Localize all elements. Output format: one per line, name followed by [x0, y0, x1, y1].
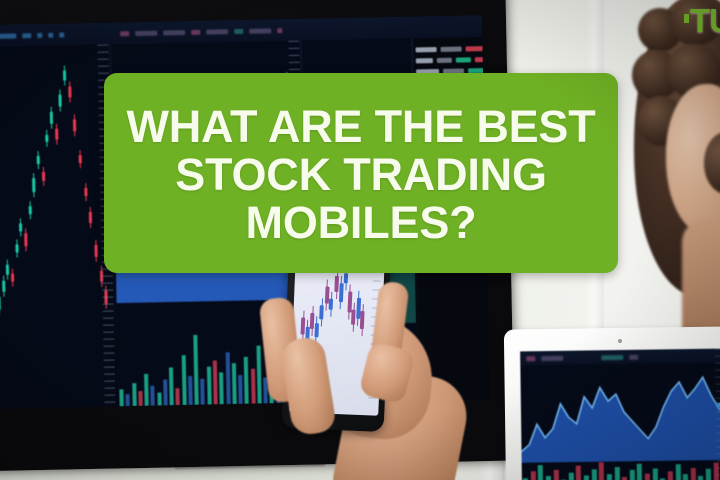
phone-candle [351, 309, 356, 324]
volume-bar [599, 462, 604, 480]
candle [32, 178, 35, 191]
volume-bar [144, 374, 149, 406]
camera-icon [618, 339, 622, 343]
volume-bar [201, 378, 206, 404]
candle-wick [80, 150, 81, 169]
candlestick-chart-pane[interactable] [0, 45, 116, 409]
candle-wick [95, 240, 96, 262]
candle-wick [56, 124, 57, 145]
candle-wick [64, 66, 65, 85]
toolbar-chip[interactable] [22, 33, 31, 38]
hero-thumbnail: WHAT ARE THE BEST STOCK TRADING MOBILES?… [0, 0, 720, 480]
volume-bar [683, 474, 688, 480]
volume-bar [213, 361, 218, 405]
candle-wick [85, 183, 86, 201]
candle-wick [29, 201, 30, 219]
volume-bar [232, 363, 237, 404]
candle [84, 188, 87, 196]
volume-bar [553, 470, 558, 480]
candle-wick [3, 276, 4, 297]
volume-bar [706, 469, 711, 480]
candle [68, 87, 71, 98]
headline: WHAT ARE THE BEST STOCK TRADING MOBILES? [104, 73, 618, 273]
volume-bar [645, 473, 650, 480]
candle [11, 274, 14, 282]
volume-bar [637, 463, 642, 480]
volume-bar [207, 367, 212, 405]
phone-candle-wick [357, 291, 359, 326]
candle-wick [25, 228, 26, 251]
headline-line-3: MOBILES? [246, 200, 477, 246]
person [608, 0, 720, 342]
candle [55, 129, 58, 140]
candle [89, 212, 92, 223]
toolbar-chip[interactable] [120, 31, 129, 36]
volume-bar [538, 465, 543, 480]
volume-bar [157, 392, 161, 405]
volume-bar [163, 379, 168, 405]
toolbar-chip[interactable] [277, 28, 282, 33]
table-cell [416, 58, 433, 63]
tablet-device [504, 326, 720, 480]
toolbar-chip[interactable] [526, 356, 535, 361]
candle [28, 206, 31, 214]
volume-bar [652, 468, 657, 480]
volume-bar [630, 470, 635, 480]
candle-wick [46, 130, 47, 147]
volume-bar [576, 466, 581, 480]
candle-wick [90, 207, 91, 228]
volume-bar [546, 476, 551, 480]
toolbar-chip[interactable] [0, 33, 16, 38]
candle [79, 155, 82, 164]
volume-bar [691, 468, 696, 480]
table-cell [456, 57, 471, 62]
toolbar-chip[interactable] [629, 354, 638, 359]
candle-wick [51, 107, 52, 128]
toolbar-spacer [70, 33, 114, 34]
volume-bar [151, 385, 155, 405]
table-row[interactable] [416, 56, 481, 63]
toolbar-chip[interactable] [59, 32, 64, 37]
candle-wick [38, 151, 39, 170]
phone-candle-wick [352, 302, 354, 331]
phone-candle [314, 323, 319, 338]
headline-banner: WHAT ARE THE BEST STOCK TRADING MOBILES? [104, 73, 618, 273]
toolbar-chip[interactable] [163, 30, 185, 35]
volume-bar [675, 465, 680, 480]
phone-candle-wick [336, 269, 338, 299]
volume-bar [698, 476, 703, 480]
volume-bar [225, 352, 230, 405]
candle [6, 264, 9, 275]
candle-wick [69, 82, 70, 103]
toolbar-chip[interactable] [601, 354, 623, 359]
candle-wick [43, 167, 44, 186]
tablet-price-axis [715, 349, 720, 480]
candle [59, 95, 62, 107]
toolbar-chip[interactable] [135, 30, 157, 35]
candle-wick [60, 90, 61, 112]
table-cell [441, 46, 462, 51]
volume-bar [530, 472, 535, 480]
candle [19, 224, 22, 232]
table-cell [466, 46, 484, 51]
volume-bar [614, 467, 619, 480]
phone-candle-wick [321, 298, 323, 326]
candle [15, 244, 18, 252]
candle [37, 156, 40, 165]
candle [46, 135, 49, 142]
candle [63, 71, 66, 80]
toolbar-chip[interactable] [234, 28, 243, 33]
table-row[interactable] [416, 45, 481, 52]
volume-bar [569, 473, 574, 480]
toolbar-chip[interactable] [249, 28, 271, 33]
volume-bar [238, 375, 243, 404]
candle-wick [16, 239, 17, 257]
volume-bar [193, 335, 198, 405]
area-fill [521, 377, 720, 463]
logo-text: TU [690, 2, 720, 39]
phone-candle [338, 283, 343, 303]
phone-candle-wick [348, 284, 351, 320]
toolbar-chip[interactable] [206, 29, 228, 34]
volume-bar [591, 469, 596, 480]
person-neck [682, 220, 720, 330]
volume-bar [188, 376, 193, 405]
volume-bar [119, 389, 123, 407]
candle [2, 281, 5, 292]
volume-bar [181, 356, 186, 406]
phone-candle-wick [326, 280, 328, 310]
candle [0, 297, 1, 310]
volume-bar [584, 476, 589, 480]
candle-wick [74, 115, 75, 137]
tablet-screen[interactable] [520, 349, 720, 480]
volume-bar [607, 474, 612, 480]
volume-bar [668, 471, 673, 480]
candle-wick [7, 259, 8, 280]
phone-candle-wick [340, 276, 342, 309]
candle-wick [12, 269, 13, 287]
candle [42, 172, 45, 181]
candle [24, 233, 27, 247]
phone-candle [329, 298, 333, 310]
headline-line-2: STOCK TRADING [175, 152, 547, 198]
volume-bar [126, 395, 130, 407]
phone-candle-wick [361, 304, 363, 336]
table-cell [416, 47, 437, 52]
phone-candle [334, 276, 339, 292]
candle [50, 112, 53, 123]
toolbar-chip[interactable] [48, 32, 53, 37]
candle-wick [33, 173, 34, 196]
candle [73, 120, 76, 132]
phone-candle [319, 305, 324, 320]
brand-logo[interactable]: TU [684, 2, 720, 40]
headline-line-1: WHAT ARE THE BEST [126, 104, 595, 150]
volume-bar [138, 391, 142, 406]
candle-wick [20, 219, 21, 237]
tablet-volume-series [522, 457, 720, 480]
phone-candle [344, 273, 348, 283]
phone-candle-wick [330, 291, 332, 316]
toolbar-chip[interactable] [541, 355, 563, 360]
phone-candle [301, 318, 306, 335]
phone-candle-wick [311, 306, 313, 335]
table-cell [437, 57, 452, 62]
volume-bar [132, 383, 136, 406]
toolbar-chip[interactable] [37, 32, 42, 37]
candle [94, 245, 97, 257]
logo-tick-icon [684, 14, 689, 23]
volume-bar [219, 372, 224, 404]
toolbar-chip[interactable] [191, 29, 200, 34]
volume-bar [169, 367, 174, 405]
volume-bar [176, 388, 180, 406]
phone-candle [360, 311, 365, 329]
